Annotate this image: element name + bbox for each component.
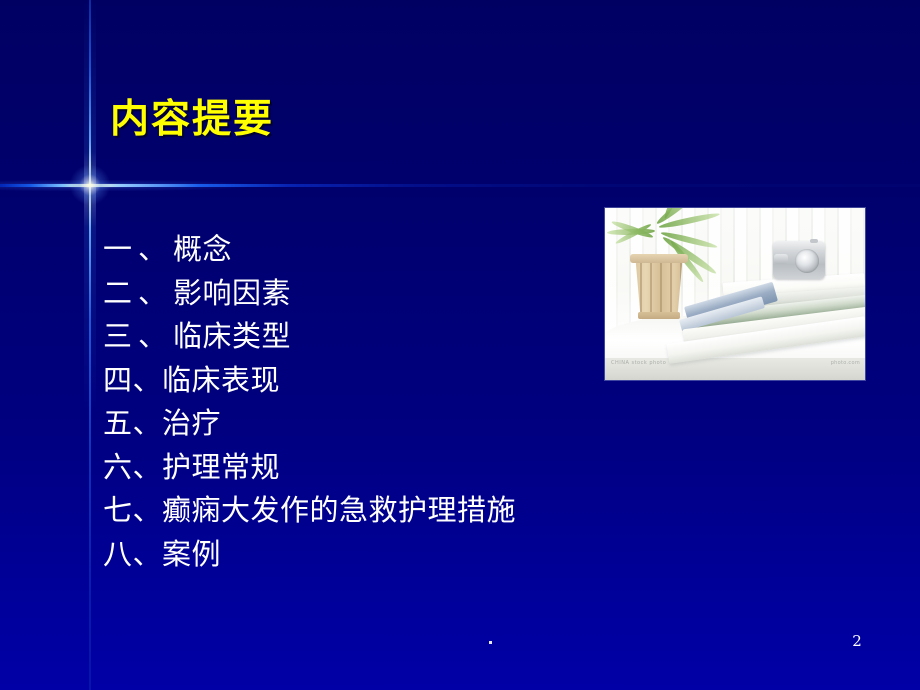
list-item-label: 临床类型 [173,319,291,353]
list-item: 五、治疗 [103,402,573,446]
camera-shutter-button [810,239,818,243]
list-item: 七、癫痫大发作的急救护理措施 [103,489,573,533]
list-item-label: 影响因素 [173,276,291,310]
list-item: 一、概念 [103,228,573,272]
list-item-label: 治疗 [162,406,221,440]
plant-pot-rim [630,254,688,263]
list-item-label: 护理常规 [162,450,280,484]
list-item-label: 临床表现 [162,363,280,397]
outline-list: 一、概念 二、影响因素 三、临床类型 四、临床表现 五、治疗 六、护理常规 七、… [103,228,573,576]
list-item-number: 一、 [103,228,173,272]
cross-sparkle-icon [70,165,110,205]
list-item-number: 八、 [103,533,162,577]
page-number: 2 [845,632,869,650]
vertical-accent-line [89,0,91,690]
list-item-label: 概念 [173,232,232,266]
list-item-number: 四、 [103,359,162,403]
list-item-label: 案例 [162,537,221,571]
plant-pot-base [638,312,680,319]
list-item-number: 七、 [103,489,162,533]
footer-marker [489,641,492,644]
list-item-number: 二、 [103,272,173,316]
photo-watermark-right: photo.com [831,360,860,366]
slide-title: 内容提要 [110,98,274,143]
list-item-number: 三、 [103,315,173,359]
list-item-number: 六、 [103,446,162,490]
slide-photo: CHINA stock photo photo.com [605,208,865,380]
list-item-number: 五、 [103,402,162,446]
list-item: 二、影响因素 [103,272,573,316]
camera-grip [774,254,788,264]
horizontal-accent-line [0,184,920,187]
list-item: 四、临床表现 [103,359,573,403]
list-item: 六、护理常规 [103,446,573,490]
plant-pot-slats [632,256,686,318]
presentation-slide: 内容提要 一、概念 二、影响因素 三、临床类型 四、临床表现 五、治疗 六、护理… [0,0,920,690]
list-item: 八、案例 [103,533,573,577]
camera-lens [795,249,819,273]
list-item: 三、临床类型 [103,315,573,359]
list-item-label: 癫痫大发作的急救护理措施 [162,493,516,527]
photo-watermark-left: CHINA stock photo [611,360,666,366]
